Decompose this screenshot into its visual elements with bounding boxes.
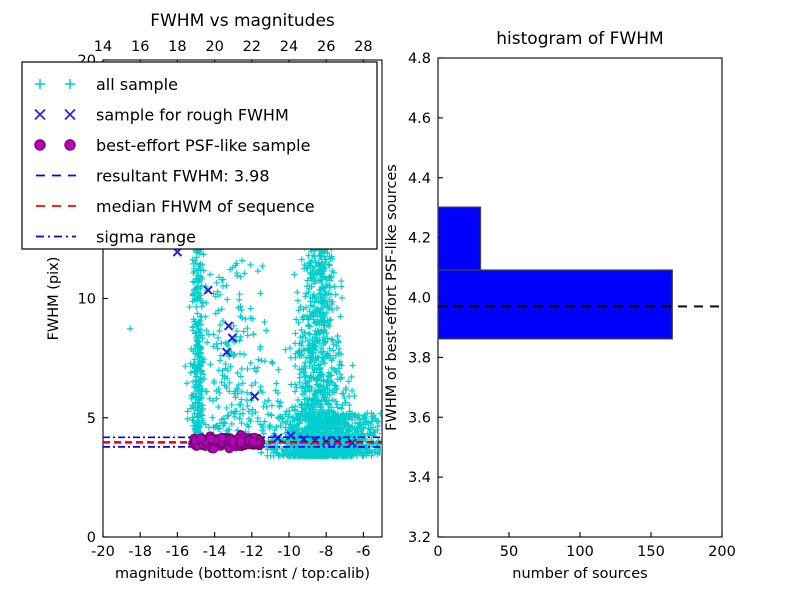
legend-item-label: median FHWM of sequence <box>96 197 315 216</box>
right-xaxis-label: number of sources <box>512 566 648 582</box>
psf-point <box>249 437 258 446</box>
right-x-tick-label: 200 <box>708 544 736 560</box>
matplotlib-figure: -20-18-16-14-12-10-8-6141618202224262805… <box>0 0 800 600</box>
histogram-bar <box>438 270 672 339</box>
right-x-tick-label: 150 <box>637 544 665 560</box>
psf-point <box>229 437 238 446</box>
legend-item-label: sample for rough FWHM <box>96 106 289 125</box>
legend: all samplesample for rough FWHMbest-effo… <box>22 62 377 249</box>
right-plot-title: histogram of FWHM <box>496 29 663 49</box>
x-tick-label-bottom: -14 <box>203 544 227 560</box>
right-x-tick-label: 50 <box>500 544 518 560</box>
right-plot-area <box>438 58 722 537</box>
left-yaxis-label: FWHM (pix) <box>46 257 62 341</box>
psf-point <box>236 438 245 447</box>
y-tick-label: 10 <box>78 292 96 308</box>
legend-box <box>22 62 377 249</box>
right-y-tick-label: 3.8 <box>408 350 431 366</box>
right-x-tick-label: 0 <box>433 544 442 560</box>
right-y-tick-label: 4.6 <box>408 111 431 127</box>
x-tick-label-bottom: -10 <box>277 544 301 560</box>
right-x-tick-label: 100 <box>566 544 594 560</box>
legend-item-label: all sample <box>96 75 178 94</box>
right-y-tick-label: 4.0 <box>408 291 431 307</box>
right-y-tick-label: 4.4 <box>408 171 431 187</box>
x-tick-label-top: 16 <box>131 39 149 55</box>
x-tick-label-top: 28 <box>354 39 372 55</box>
histogram-bar <box>438 207 481 270</box>
legend-item-label: sigma range <box>96 228 196 247</box>
x-tick-label-bottom: -6 <box>356 544 370 560</box>
right-y-tick-label: 3.2 <box>408 530 431 546</box>
left-plot-title: FWHM vs magnitudes <box>150 11 335 31</box>
x-tick-label-top: 24 <box>280 39 298 55</box>
psf-point <box>209 444 218 453</box>
legend-circle-icon <box>35 140 45 150</box>
legend-item-label: best-effort PSF-like sample <box>96 136 310 155</box>
left-xaxis-label: magnitude (bottom:isnt / top:calib) <box>115 566 370 582</box>
psf-point <box>207 434 216 443</box>
right-y-tick-label: 3.6 <box>408 410 431 426</box>
x-tick-label-bottom: -18 <box>128 544 152 560</box>
x-tick-label-top: 14 <box>94 39 112 55</box>
legend-item-label: resultant FWHM: 3.98 <box>96 167 270 186</box>
y-tick-label: 5 <box>87 411 96 427</box>
figure-canvas: -20-18-16-14-12-10-8-6141618202224262805… <box>0 0 800 600</box>
right-y-tick-label: 4.8 <box>408 51 431 67</box>
right-yaxis-label: FWHM of best-effort PSF-like sources <box>384 164 400 431</box>
x-tick-label-bottom: -20 <box>91 544 115 560</box>
x-tick-label-top: 20 <box>205 39 223 55</box>
x-tick-label-top: 26 <box>317 39 335 55</box>
y-tick-label: 0 <box>87 530 96 546</box>
x-tick-label-bottom: -16 <box>166 544 190 560</box>
legend-circle-icon <box>65 140 75 150</box>
x-tick-label-bottom: -8 <box>319 544 333 560</box>
psf-point <box>197 434 206 443</box>
right-y-tick-label: 3.4 <box>408 470 431 486</box>
right-y-tick-label: 4.2 <box>408 231 431 247</box>
x-tick-label-top: 18 <box>168 39 186 55</box>
x-tick-label-bottom: -12 <box>240 544 264 560</box>
x-tick-label-top: 22 <box>243 39 261 55</box>
